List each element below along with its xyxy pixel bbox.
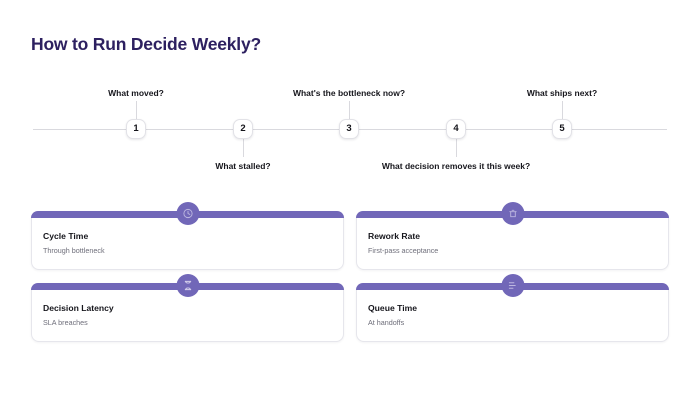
timeline: What moved? 1 2 What stalled? What's the… [0,78,700,178]
metric-card-row: Decision Latency SLA breaches Queue Time… [31,283,669,342]
clock-icon [176,202,199,225]
timeline-step-1-marker[interactable]: 1 [126,119,146,139]
metric-card-queue-time[interactable]: Queue Time At handoffs [356,283,669,342]
recycle-icon [501,202,524,225]
timeline-step-2-marker[interactable]: 2 [233,119,253,139]
timeline-step-1-stem [136,101,137,119]
metric-card-cycle-time[interactable]: Cycle Time Through bottleneck [31,211,344,270]
timeline-step-5-marker[interactable]: 5 [552,119,572,139]
timeline-step-3-marker[interactable]: 3 [339,119,359,139]
timeline-step-5-label: What ships next? [432,89,692,98]
metric-card-title: Rework Rate [368,232,668,241]
metric-card-title: Decision Latency [43,304,343,313]
timeline-step-4-label: What decision removes it this week? [326,162,586,171]
metric-card-title: Cycle Time [43,232,343,241]
timeline-step-5-stem [562,101,563,119]
metric-card-subtitle: Through bottleneck [43,247,343,254]
page-title: How to Run Decide Weekly? [31,34,261,55]
queue-icon [501,274,524,297]
metric-card-row: Cycle Time Through bottleneck Rework Rat… [31,211,669,270]
timeline-step-4-marker[interactable]: 4 [446,119,466,139]
metric-card-rework-rate[interactable]: Rework Rate First-pass acceptance [356,211,669,270]
metric-card-grid: Cycle Time Through bottleneck Rework Rat… [31,211,669,355]
metric-card-decision-latency[interactable]: Decision Latency SLA breaches [31,283,344,342]
timeline-step-3-stem [349,101,350,119]
timeline-step-2-stem [243,139,244,157]
metric-card-subtitle: At handoffs [368,319,668,326]
hourglass-icon [176,274,199,297]
metric-card-title: Queue Time [368,304,668,313]
page-root: How to Run Decide Weekly? What moved? 1 … [0,0,700,400]
timeline-step-4-stem [456,139,457,157]
metric-card-subtitle: First-pass acceptance [368,247,668,254]
metric-card-subtitle: SLA breaches [43,319,343,326]
